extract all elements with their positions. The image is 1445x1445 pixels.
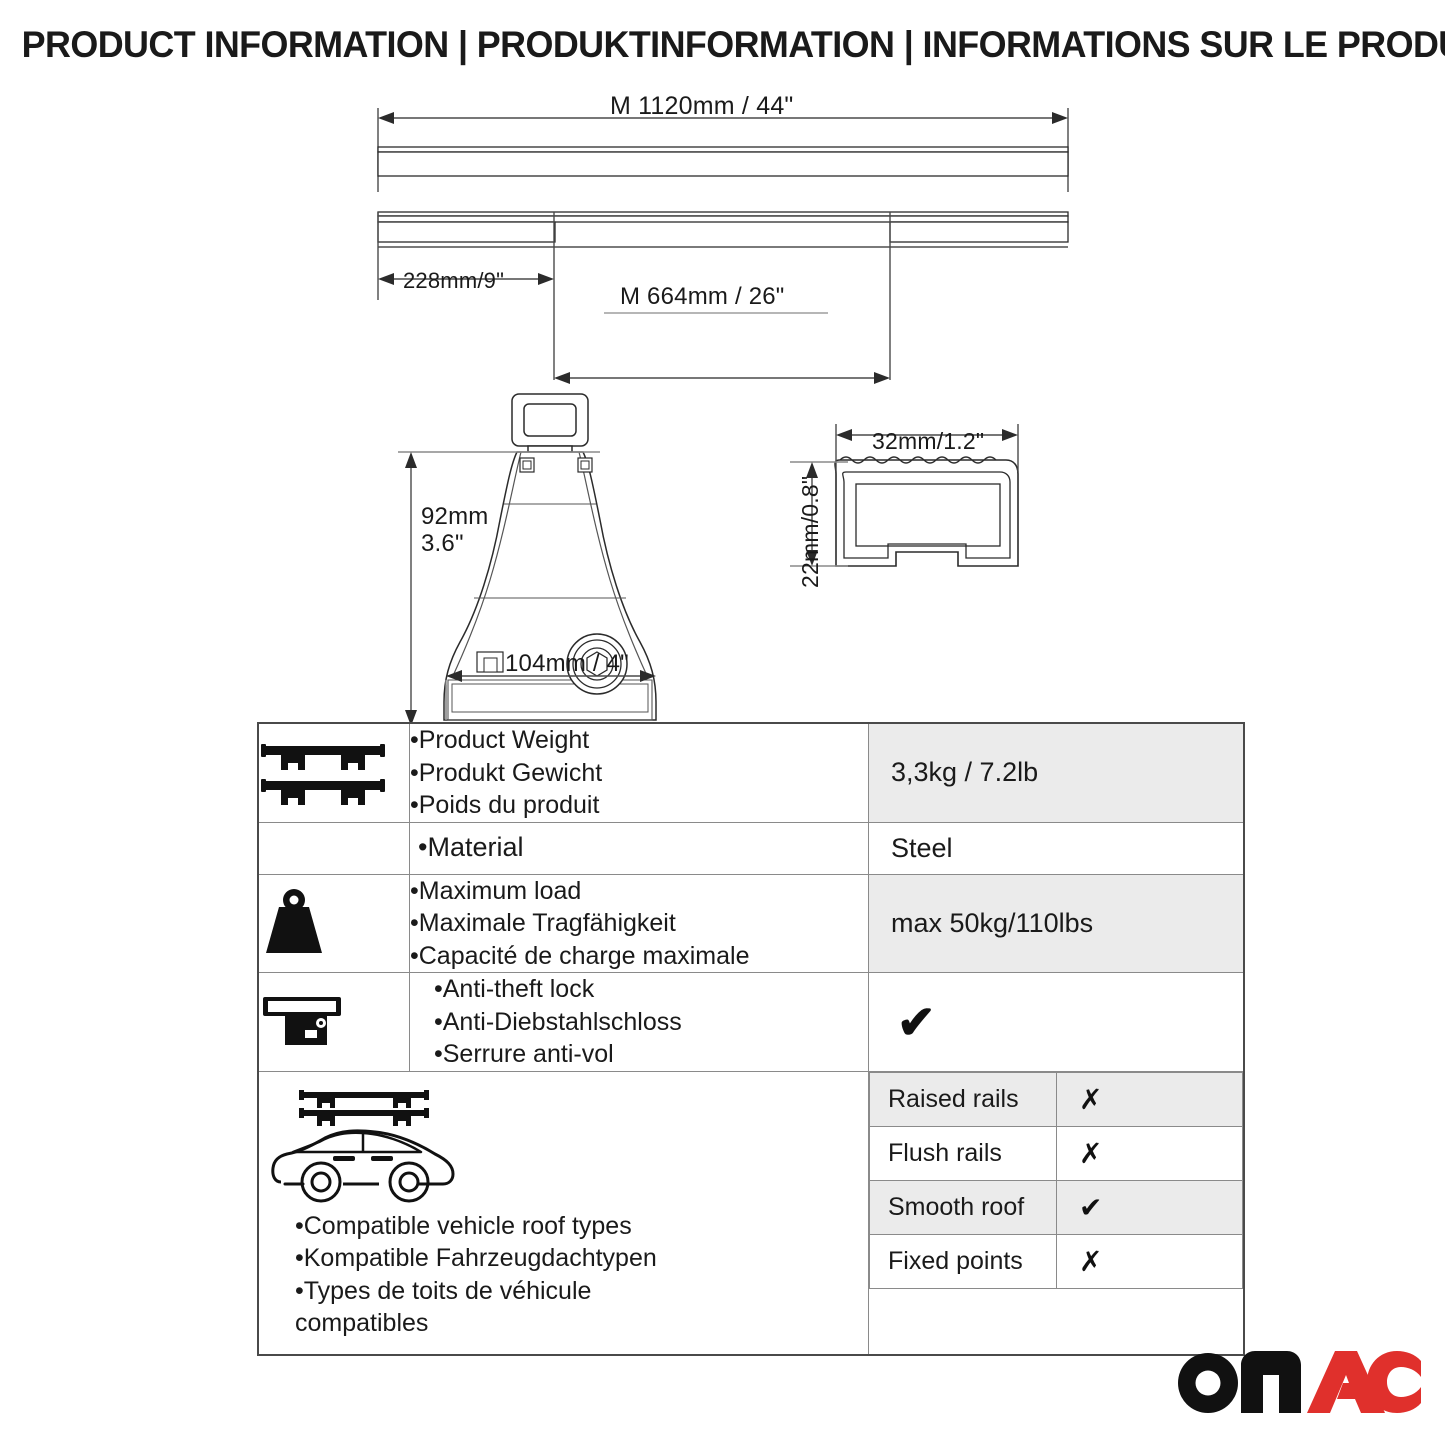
roof-type-name: Fixed points [870, 1237, 1056, 1286]
roof-type-support-cell: ✗ [1057, 1234, 1243, 1288]
label-en: •Material [418, 830, 868, 865]
bar-length-label: M 1120mm / 44" [610, 92, 794, 121]
profile-cross-section [835, 457, 1018, 566]
lock-icon-cell [258, 973, 410, 1072]
anti-theft-value-cell: ✔ [869, 973, 1245, 1072]
roof-type-support-cell: ✗ [1057, 1072, 1243, 1126]
profile-width-label: 32mm/1.2" [872, 428, 984, 455]
roof-type-row: Raised rails ✗ [870, 1072, 1243, 1126]
crossbar-top-view [378, 147, 1068, 176]
label-fr: •Types de toits de véhicule [295, 1275, 854, 1308]
roof-types-cell: Raised rails ✗ Flush rails ✗ [869, 1071, 1245, 1355]
table-row: •Product Weight •Produkt Gewicht •Poids … [258, 723, 1244, 822]
roof-type-name-cell: Smooth roof [870, 1180, 1057, 1234]
compatibility-labels: •Compatible vehicle roof types •Kompatib… [259, 1206, 868, 1354]
maximum-load-value: max 50kg/110lbs [869, 898, 1243, 949]
foot-width-label: 104mm / 4" [505, 650, 629, 678]
label-de: •Maximale Tragfähigkeit [410, 907, 868, 940]
label-en: •Product Weight [410, 724, 868, 757]
foot-height-mm-label: 92mm [421, 503, 488, 531]
roof-type-support-icon: ✔ [1057, 1181, 1242, 1234]
product-weight-labels: •Product Weight •Produkt Gewicht •Poids … [410, 723, 869, 822]
maximum-load-labels: •Maximum load •Maximale Tragfähigkeit •C… [410, 874, 869, 973]
label-fr-cont: compatibles [295, 1307, 854, 1340]
table-row: •Maximum load •Maximale Tragfähigkeit •C… [258, 874, 1244, 973]
roof-type-name-cell: Raised rails [870, 1072, 1057, 1126]
span-label: M 664mm / 26" [620, 283, 785, 311]
weight-icon-cell [258, 874, 410, 973]
roof-type-name-cell: Fixed points [870, 1234, 1057, 1288]
roof-type-support-cell: ✔ [1057, 1180, 1243, 1234]
product-weight-value-cell: 3,3kg / 7.2lb [869, 723, 1245, 822]
table-row: •Material Steel [258, 822, 1244, 874]
product-weight-value: 3,3kg / 7.2lb [869, 747, 1243, 798]
specification-table: •Product Weight •Produkt Gewicht •Poids … [257, 722, 1245, 1356]
roof-types-table: Raised rails ✗ Flush rails ✗ [869, 1072, 1243, 1289]
roof-type-name-cell: Flush rails [870, 1126, 1057, 1180]
roof-type-support-icon: ✗ [1057, 1235, 1242, 1288]
crossbars-icon [259, 736, 387, 810]
roof-type-row: Smooth roof ✔ [870, 1180, 1243, 1234]
label-fr: •Serrure anti-vol [434, 1038, 868, 1071]
roof-type-name: Flush rails [870, 1129, 1056, 1178]
lock-icon [259, 991, 345, 1053]
label-fr: •Poids du produit [410, 789, 868, 822]
technical-drawing [0, 80, 1445, 780]
maximum-load-value-cell: max 50kg/110lbs [869, 874, 1245, 973]
label-de: •Anti-Diebstahlschloss [434, 1006, 868, 1039]
roof-type-row: Flush rails ✗ [870, 1126, 1243, 1180]
label-de: •Kompatible Fahrzeugdachtypen [295, 1242, 854, 1275]
omac-logo-mark [1175, 1347, 1425, 1417]
label-fr: •Capacité de charge maximale [410, 940, 868, 973]
page-title: PRODUCT INFORMATION | PRODUKTINFORMATION… [22, 24, 1424, 66]
crossbar-bottom-view [378, 212, 1068, 247]
crossbars-icon-cell [258, 723, 410, 822]
roof-type-support-icon: ✗ [1057, 1127, 1242, 1180]
anti-theft-labels: •Anti-theft lock •Anti-Diebstahlschloss … [410, 973, 869, 1072]
roof-type-support-icon: ✗ [1057, 1073, 1242, 1126]
material-icon-cell [258, 822, 410, 874]
label-en: •Anti-theft lock [434, 973, 868, 1006]
omac-logo [1175, 1347, 1425, 1417]
roof-type-row: Fixed points ✗ [870, 1234, 1243, 1288]
product-information-page: PRODUCT INFORMATION | PRODUKTINFORMATION… [0, 0, 1445, 1445]
table-row-compatibility: •Compatible vehicle roof types •Kompatib… [258, 1071, 1244, 1355]
roof-type-name: Smooth roof [870, 1183, 1056, 1232]
table-row: •Anti-theft lock •Anti-Diebstahlschloss … [258, 973, 1244, 1072]
car-with-rack-icon [259, 1086, 469, 1206]
weight-icon [259, 887, 329, 959]
end-offset-label: 228mm/9" [403, 268, 504, 294]
label-en: •Maximum load [410, 875, 868, 908]
material-value: Steel [869, 823, 1243, 874]
compatibility-left-cell: •Compatible vehicle roof types •Kompatib… [258, 1071, 869, 1355]
roof-type-support-cell: ✗ [1057, 1126, 1243, 1180]
label-en: •Compatible vehicle roof types [295, 1210, 854, 1243]
profile-height-label: 22mm/0.8" [797, 476, 824, 588]
foot-height-in-label: 3.6" [421, 530, 464, 558]
roof-type-name: Raised rails [870, 1075, 1056, 1124]
anti-theft-check-icon: ✔ [869, 995, 1243, 1049]
material-labels: •Material [410, 822, 869, 874]
label-de: •Produkt Gewicht [410, 757, 868, 790]
material-value-cell: Steel [869, 822, 1245, 874]
